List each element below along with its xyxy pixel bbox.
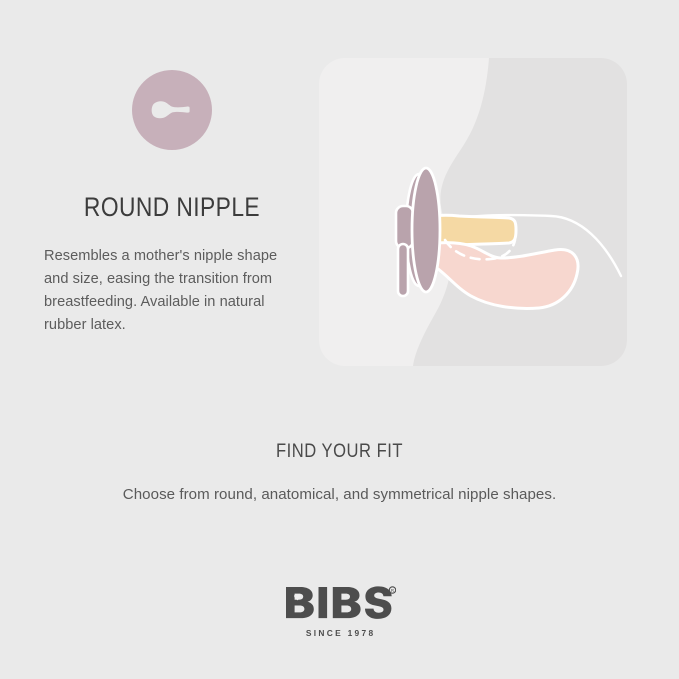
bibs-wordmark: R xyxy=(284,586,396,620)
round-nipple-icon xyxy=(131,69,213,151)
brand-logo-block: R SINCE 1978 xyxy=(0,586,679,638)
feature-icon-container xyxy=(44,60,300,160)
feature-title: ROUND NIPPLE xyxy=(62,192,282,223)
product-feature-page: ROUND NIPPLE Resembles a mother's nipple… xyxy=(0,0,679,679)
heart-icon xyxy=(294,594,301,600)
registered-mark-icon: R xyxy=(389,587,395,593)
pacifier-handle-stem xyxy=(398,244,408,296)
find-your-fit-subtitle: Choose from round, anatomical, and symme… xyxy=(0,486,679,503)
pacifier-in-mouth-illustration xyxy=(319,58,627,366)
find-your-fit-block: FIND YOUR FIT Choose from round, anatomi… xyxy=(0,440,679,503)
feature-top-section: ROUND NIPPLE Resembles a mother's nipple… xyxy=(0,0,679,400)
face-silhouette xyxy=(413,58,627,366)
pacifier-illustration-card xyxy=(319,58,627,366)
round-nipple-feature-column: ROUND NIPPLE Resembles a mother's nipple… xyxy=(44,60,300,370)
pacifier-handle-top xyxy=(396,206,413,248)
find-your-fit-title: FIND YOUR FIT xyxy=(51,440,628,463)
brand-tagline: SINCE 1978 xyxy=(0,628,679,638)
svg-text:R: R xyxy=(390,588,393,593)
feature-description: Resembles a mother's nipple shape and si… xyxy=(44,245,288,337)
pacifier-shield-front xyxy=(412,168,440,292)
